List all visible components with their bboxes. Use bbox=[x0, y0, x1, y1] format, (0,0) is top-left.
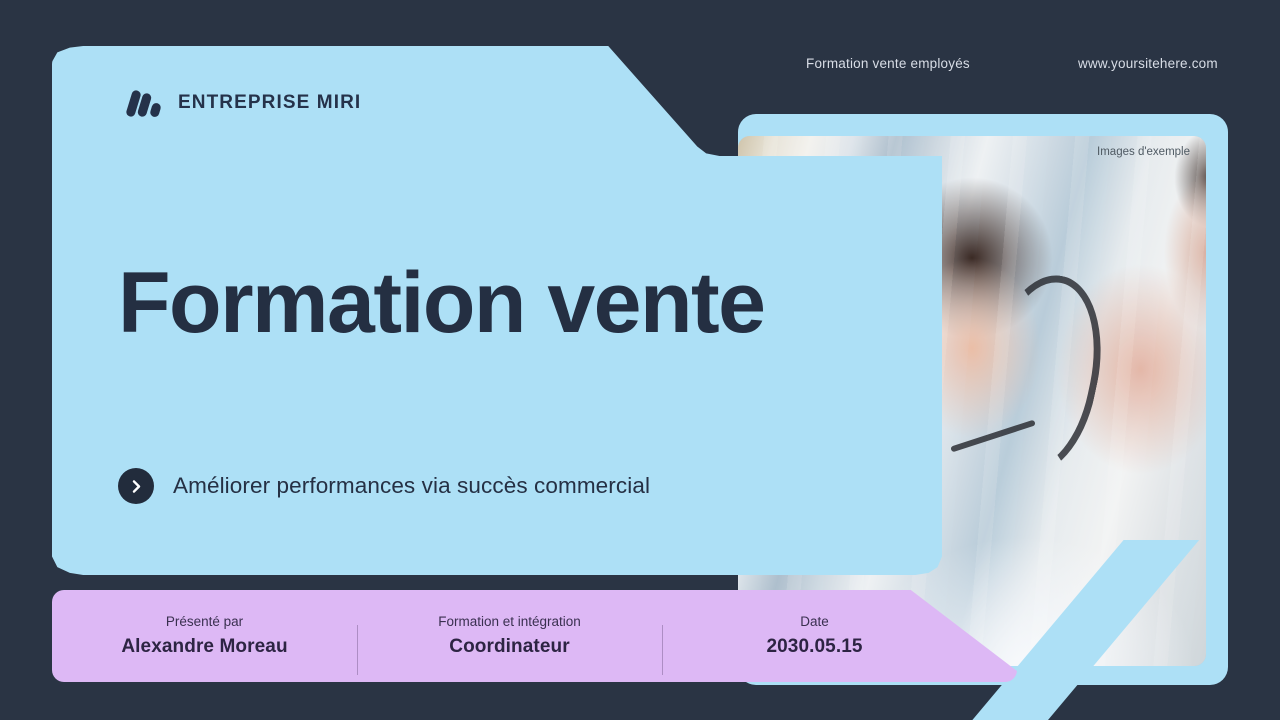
footer-label: Formation et intégration bbox=[438, 614, 581, 629]
presentation-slide: Formation vente employés www.yoursiteher… bbox=[0, 0, 1280, 720]
footer-column-date: Date 2030.05.15 bbox=[662, 614, 967, 658]
footer-value: Alexandre Moreau bbox=[121, 636, 287, 658]
brand-logo[interactable]: ENTREPRISE MIRI bbox=[128, 88, 361, 118]
photo-caption: Images d'exemple bbox=[1097, 146, 1190, 158]
page-title: Formation vente bbox=[118, 258, 764, 348]
topic-label: Formation vente employés bbox=[806, 56, 970, 71]
footer-value: Coordinateur bbox=[449, 636, 569, 658]
footer-value: 2030.05.15 bbox=[766, 636, 862, 658]
subtitle-row: Améliorer performances via succès commer… bbox=[118, 468, 650, 504]
website-url[interactable]: www.yoursitehere.com bbox=[1078, 56, 1218, 71]
footer-label: Présenté par bbox=[166, 614, 243, 629]
chevron-right-icon bbox=[118, 468, 154, 504]
three-slanted-bars-logo-icon bbox=[128, 88, 162, 118]
footer-column-presenter: Présenté par Alexandre Moreau bbox=[52, 614, 357, 658]
footer-info-columns: Présenté par Alexandre Moreau Formation … bbox=[52, 590, 967, 682]
footer-label: Date bbox=[800, 614, 829, 629]
brand-name: ENTREPRISE MIRI bbox=[178, 92, 361, 114]
footer-column-role: Formation et intégration Coordinateur bbox=[357, 614, 662, 658]
subtitle-text: Améliorer performances via succès commer… bbox=[173, 473, 650, 499]
